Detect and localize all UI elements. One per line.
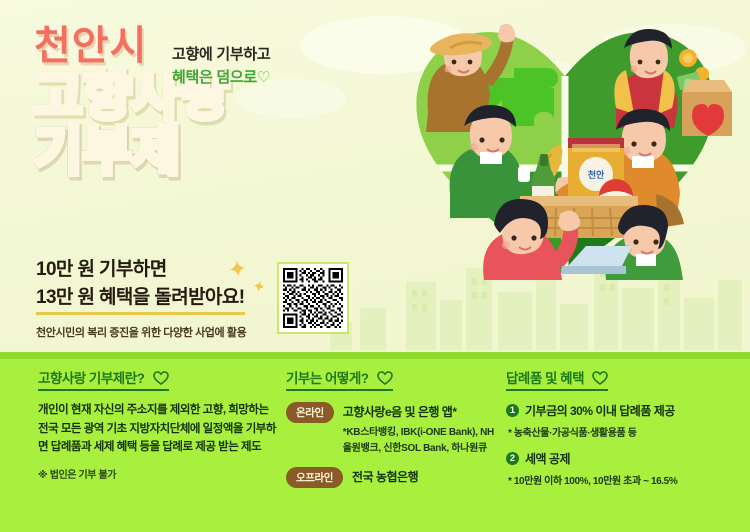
tagline: 고향에 기부하고 혜택은 덤으로♡ — [172, 44, 270, 89]
benefit-line-2: 13만 원 혜택을 돌려받아요! — [36, 284, 245, 316]
poster-root: 천안 — [0, 0, 750, 532]
heart-community-illustration: 천안 — [392, 18, 738, 280]
section-heading-how: 기부는 어떻게? — [286, 367, 393, 391]
page-title-sub: 기부제 — [34, 125, 364, 178]
info-panel: 고향사랑 기부제란? 개인이 현재 자신의 주소지를 제외한 고향, 희망하는 … — [0, 359, 750, 532]
about-body-text: 개인이 현재 자신의 주소지를 제외한 고향, 희망하는 전국 모든 광역 기초… — [38, 401, 278, 457]
benefit-note: 천안시민의 복리 증진을 위한 다양한 사업에 활용 — [36, 324, 296, 340]
channel-row-online: 온라인 고향사랑e음 및 은행 앱* *KB스타뱅킹, IBK(i-ONE Ba… — [286, 402, 496, 456]
badge-offline: 오프라인 — [286, 467, 343, 488]
benefit-item-2: 2 세액 공제 — [506, 450, 736, 467]
channel-offline-title: 전국 농협은행 — [352, 470, 418, 484]
heart-icon — [153, 371, 169, 385]
benefit-item-2-note: * 10만원 이하 100%, 10만원 초과 ~ 16.5% — [508, 472, 736, 487]
info-column-benefits: 답례품 및 혜택 1 기부금의 30% 이내 답례품 제공 * 농축산물·가공식… — [506, 367, 736, 487]
number-badge-2: 2 — [506, 452, 519, 465]
tagline-line-2: 혜택은 덤으로♡ — [172, 67, 270, 90]
svg-text:천안: 천안 — [588, 170, 605, 180]
tagline-line-1: 고향에 기부하고 — [172, 44, 270, 67]
channel-online-title: 고향사랑e음 및 은행 앱* — [343, 405, 457, 419]
number-badge-1: 1 — [506, 404, 519, 417]
section-heading-about-label: 고향사랑 기부제란? — [38, 371, 144, 386]
heart-icon — [377, 371, 393, 385]
qr-code-image — [283, 268, 343, 328]
badge-online: 온라인 — [286, 402, 334, 423]
info-column-how: 기부는 어떻게? 온라인 고향사랑e음 및 은행 앱* *KB스타뱅킹, IBK… — [286, 367, 496, 488]
sparkle-icon: ✦ — [226, 257, 248, 282]
info-column-about: 고향사랑 기부제란? 개인이 현재 자신의 주소지를 제외한 고향, 희망하는 … — [38, 367, 278, 481]
benefit-item-1: 1 기부금의 30% 이내 답례품 제공 — [506, 402, 736, 419]
benefit-item-1-note: * 농축산물·가공식품·생활용품 등 — [508, 424, 736, 439]
channel-row-offline: 오프라인 전국 농협은행 — [286, 467, 496, 488]
section-heading-benefits: 답례품 및 혜택 — [506, 367, 608, 391]
channel-online-detail: *KB스타뱅킹, IBK(i-ONE Bank), NH올원뱅크, 신한SOL … — [343, 425, 496, 456]
section-divider — [0, 352, 750, 359]
section-heading-how-label: 기부는 어떻게? — [286, 371, 369, 386]
benefit-block: 10만 원 기부하면 13만 원 혜택을 돌려받아요! 천안시민의 복리 증진을… — [36, 256, 296, 340]
benefit-item-2-text: 세액 공제 — [525, 450, 570, 467]
about-footnote: ※ 법인은 기부 불가 — [38, 466, 278, 481]
section-heading-about: 고향사랑 기부제란? — [38, 367, 169, 391]
benefit-item-1-text: 기부금의 30% 이내 답례품 제공 — [525, 402, 675, 419]
qr-code[interactable] — [277, 262, 349, 334]
section-heading-benefits-label: 답례품 및 혜택 — [506, 371, 584, 386]
heart-icon — [592, 371, 608, 385]
